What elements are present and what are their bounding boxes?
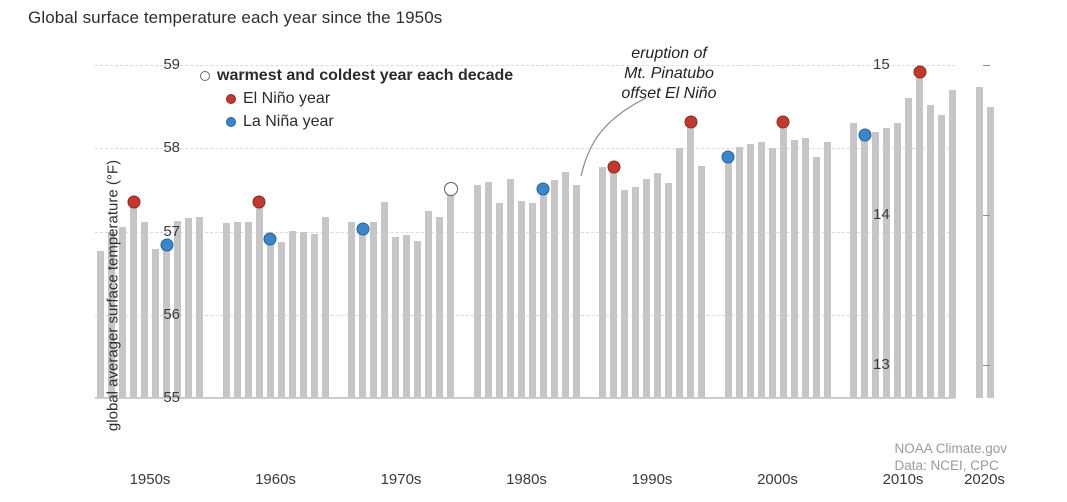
bar-1986: [540, 194, 547, 398]
marker-el-nino-2016: [913, 66, 926, 79]
bar-2016: [916, 78, 923, 399]
bar-1990: [599, 167, 606, 398]
x-tick-2000s: 2000s: [757, 471, 798, 488]
y-tick-left-56: 56: [140, 306, 180, 323]
x-axis-baseline: [95, 397, 955, 398]
bar-1981: [485, 182, 492, 398]
bar-2009: [824, 142, 831, 398]
bar-1959: [196, 217, 203, 398]
bar-1967: [300, 232, 307, 399]
y-tick-right-15: 15: [873, 56, 913, 73]
red-dot-icon: [226, 94, 236, 104]
bar-1965: [278, 242, 285, 399]
bar-1964: [267, 244, 274, 398]
bar-2006: [791, 140, 798, 398]
y-tick-left-58: 58: [140, 139, 180, 156]
marker-la-nina-2000: [722, 151, 735, 164]
bar-1972: [370, 222, 377, 398]
y-tick-dash-right-14: [983, 215, 990, 216]
y-tick-dash-right-15: [983, 65, 990, 66]
bar-2005: [780, 127, 787, 398]
legend-label-la-nina: La Niña year: [243, 113, 334, 131]
bar-1978: [436, 217, 443, 398]
bar-1992: [621, 190, 628, 398]
y-tick-right-14: 14: [873, 206, 913, 223]
bar-1984: [518, 201, 525, 398]
source-credit: NOAA Climate.gov Data: NCEI, CPC: [894, 440, 1007, 474]
bar-1977: [425, 211, 432, 398]
bar-1966: [289, 231, 296, 398]
bar-2004: [769, 148, 776, 398]
marker-extreme-1979: [444, 182, 458, 196]
bar-1979: [447, 194, 454, 398]
bar-1993: [632, 187, 639, 398]
annotation-line-1: eruption of: [604, 44, 734, 64]
x-tick-1980s: 1980s: [506, 471, 547, 488]
bar-1997: [676, 148, 683, 398]
marker-el-nino-1998: [684, 116, 697, 129]
bar-1987: [551, 180, 558, 398]
bar-1983: [507, 179, 514, 398]
marker-el-nino-1963: [253, 195, 266, 208]
bar-1989: [573, 185, 580, 398]
bar-1962: [245, 222, 252, 398]
y-tick-left-59: 59: [140, 56, 180, 73]
x-tick-1990s: 1990s: [632, 471, 673, 488]
bar-1995: [654, 173, 661, 398]
gridline-55: [95, 398, 955, 399]
bar-2010: [850, 123, 857, 398]
bar-1980: [474, 185, 481, 398]
bar-1963: [256, 207, 263, 398]
bar-2021: [987, 107, 994, 398]
bar-1953: [130, 207, 137, 398]
annotation-pinatubo: eruption of Mt. Pinatubo offset El Niño: [604, 44, 734, 104]
legend: warmest and coldest year each decade El …: [200, 64, 513, 133]
legend-label-extremes: warmest and coldest year each decade: [217, 67, 513, 85]
x-tick-1950s: 1950s: [130, 471, 171, 488]
bar-1969: [322, 217, 329, 398]
bar-1985: [529, 203, 536, 398]
credit-line-1: NOAA Climate.gov: [894, 440, 1007, 457]
bar-1973: [381, 202, 388, 398]
blue-dot-icon: [226, 117, 236, 127]
y-axis-title-left: global averager surface temperature (°F): [105, 116, 122, 476]
bar-1961: [234, 222, 241, 398]
bar-1975: [403, 235, 410, 398]
bar-1976: [414, 241, 421, 398]
bar-1999: [698, 166, 705, 398]
marker-el-nino-1991: [607, 160, 620, 173]
bar-1998: [687, 127, 694, 398]
bar-2017: [927, 105, 934, 398]
bar-1958: [185, 218, 192, 398]
bar-1968: [311, 234, 318, 398]
annotation-line-2: Mt. Pinatubo: [604, 64, 734, 84]
y-tick-left-55: 55: [140, 389, 180, 406]
marker-el-nino-1953: [127, 195, 140, 208]
bar-2002: [747, 144, 754, 398]
y-tick-left-57: 57: [140, 223, 180, 240]
bar-1955: [152, 249, 159, 398]
bar-1970: [348, 222, 355, 398]
x-tick-1960s: 1960s: [255, 471, 296, 488]
bar-1988: [562, 172, 569, 398]
bar-2019: [949, 90, 956, 398]
marker-el-nino-2005: [777, 116, 790, 129]
marker-la-nina-1956: [160, 238, 173, 251]
legend-item-la-nina: La Niña year: [200, 110, 513, 133]
bar-2007: [802, 138, 809, 398]
bar-2001: [736, 147, 743, 398]
marker-la-nina-1986: [537, 183, 550, 196]
marker-la-nina-1964: [264, 232, 277, 245]
bar-2020: [976, 87, 983, 398]
legend-item-el-nino: El Niño year: [200, 87, 513, 110]
open-circle-icon: [200, 71, 210, 81]
y-tick-right-13: 13: [873, 356, 913, 373]
marker-la-nina-1971: [356, 222, 369, 235]
y-tick-dash-right-13: [983, 365, 990, 366]
bar-2003: [758, 142, 765, 398]
marker-la-nina-2011: [858, 128, 871, 141]
bar-1994: [643, 179, 650, 398]
bar-1956: [163, 250, 170, 398]
legend-label-el-nino: El Niño year: [243, 90, 330, 108]
legend-item-extremes: warmest and coldest year each decade: [200, 64, 513, 87]
bar-2015: [905, 98, 912, 398]
bar-1974: [392, 237, 399, 398]
bar-1950: [97, 251, 104, 398]
bar-2011: [861, 140, 868, 398]
annotation-line-3: offset El Niño: [604, 84, 734, 104]
chart-title: Global surface temperature each year sin…: [28, 8, 442, 28]
x-tick-1970s: 1970s: [381, 471, 422, 488]
bar-1971: [359, 234, 366, 398]
credit-line-2: Data: NCEI, CPC: [894, 457, 1007, 474]
bar-2008: [813, 157, 820, 398]
bar-2000: [725, 162, 732, 398]
bar-1996: [665, 183, 672, 398]
bar-1982: [496, 203, 503, 398]
bar-1960: [223, 223, 230, 398]
bar-2018: [938, 115, 945, 398]
bar-1991: [610, 172, 617, 398]
